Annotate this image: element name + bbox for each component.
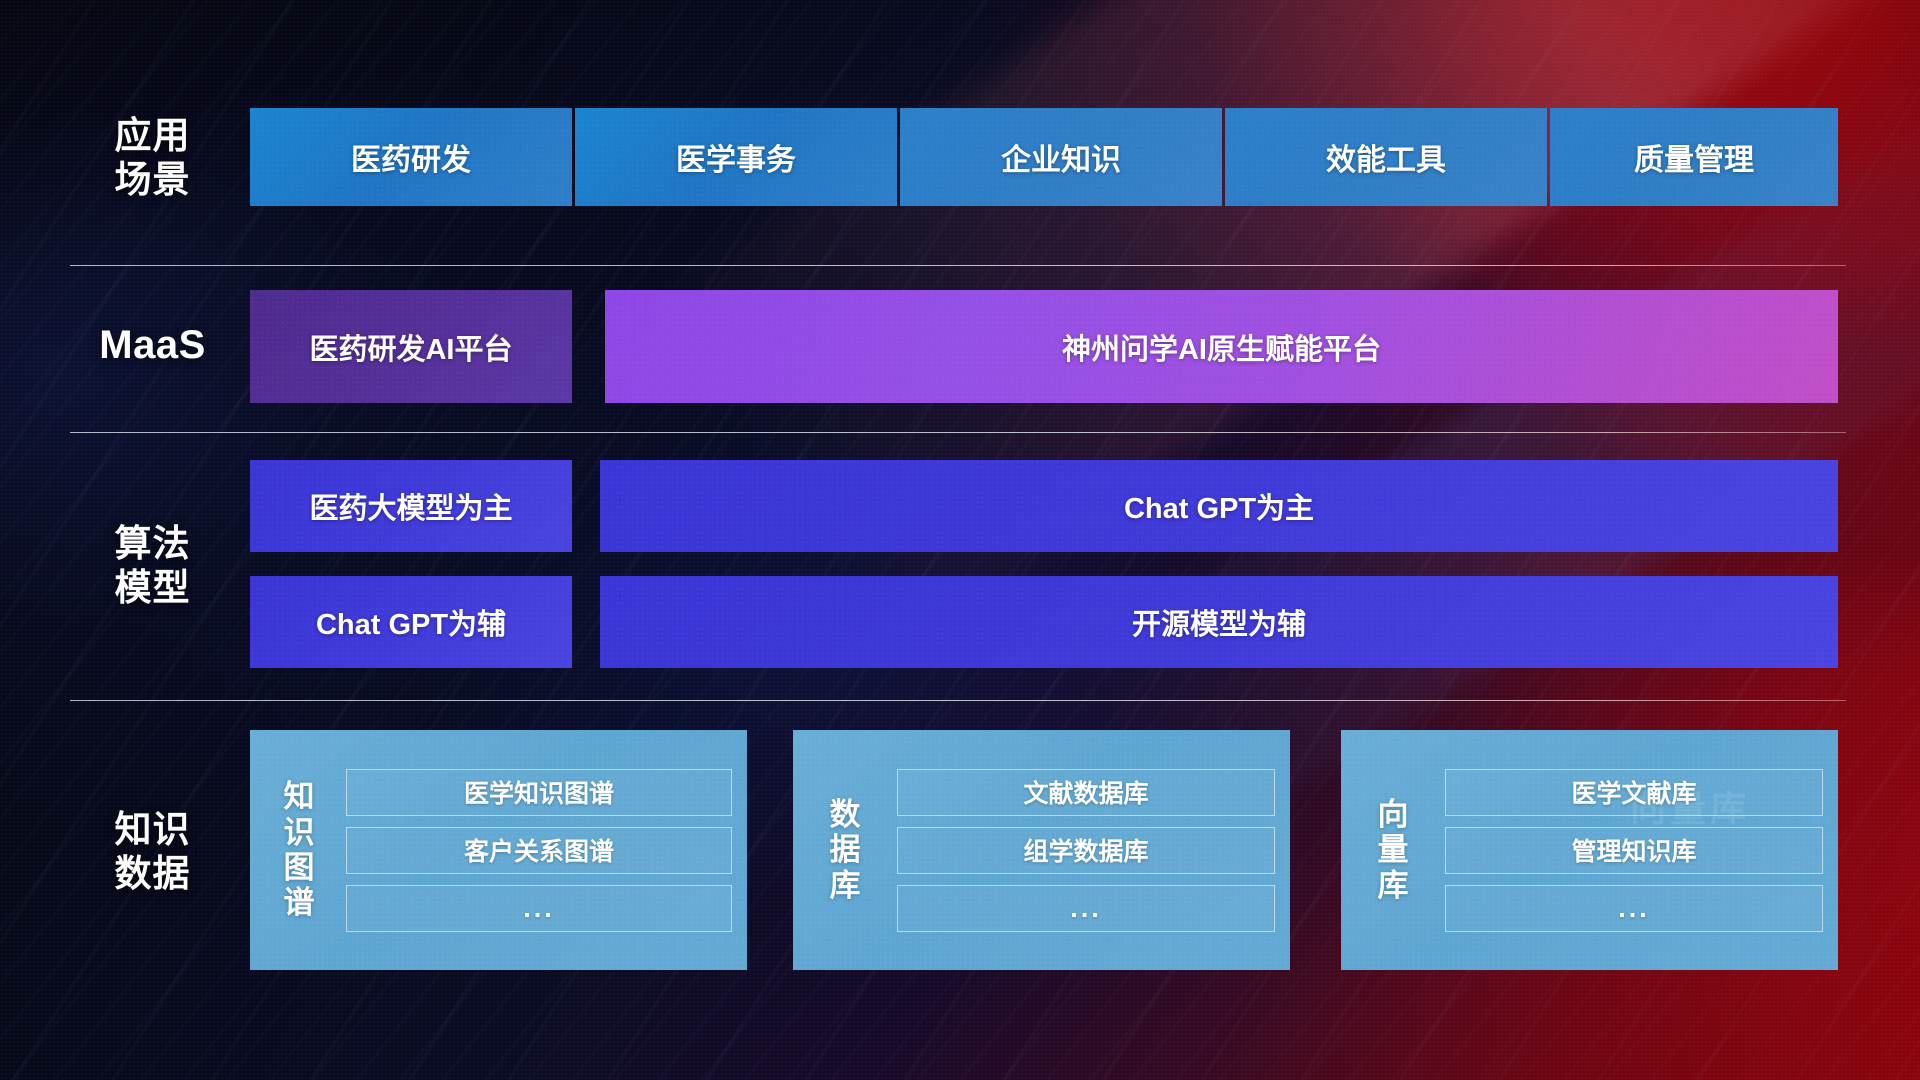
app-box-medical-affairs-label: 医学事务: [676, 135, 796, 179]
algorithm-box-opensource-secondary-label: 开源模型为辅: [1132, 601, 1306, 643]
app-box-drug-rnd[interactable]: 医药研发: [250, 108, 572, 206]
diagram-content: 应用 场景 医药研发 医学事务 企业知识 效能工具 质量管理 MaaS 医药研发…: [0, 0, 1920, 1080]
knowledge-item-customer-relation-graph[interactable]: 客户关系图谱: [346, 827, 732, 874]
row-label-knowledge-data: 知识 数据: [70, 808, 235, 895]
app-box-efficiency-tools[interactable]: 效能工具: [1225, 108, 1547, 206]
app-box-enterprise-knowledge[interactable]: 企业知识: [900, 108, 1222, 206]
maas-box-drug-rnd-ai-platform-label: 医药研发AI平台: [309, 326, 512, 368]
maas-box-shenzhou-wenxue-platform[interactable]: 神州问学AI原生赋能平台: [605, 290, 1838, 403]
algorithm-box-pharma-llm-primary-label: 医药大模型为主: [309, 485, 512, 527]
app-box-quality-management-label: 质量管理: [1634, 135, 1754, 179]
knowledge-item-label: 组学数据库: [1023, 832, 1148, 868]
knowledge-item-label: 客户关系图谱: [464, 832, 614, 868]
knowledge-item-medical-literature-store[interactable]: 医学文献库: [1445, 769, 1823, 816]
divider-algorithm-knowledge: [70, 700, 1846, 701]
app-box-efficiency-tools-label: 效能工具: [1326, 135, 1446, 179]
knowledge-item-label: ...: [523, 893, 555, 924]
knowledge-group-knowledge-graph-side-label: 知 识 图 谱: [270, 779, 328, 920]
knowledge-item-label: ...: [1618, 893, 1650, 924]
knowledge-item-more-db[interactable]: ...: [897, 885, 1275, 932]
knowledge-item-label: 管理知识库: [1571, 832, 1696, 868]
knowledge-group-knowledge-graph: 知 识 图 谱 医学知识图谱 客户关系图谱 ...: [250, 730, 747, 970]
knowledge-item-label: ...: [1070, 893, 1102, 924]
knowledge-item-label: 医学知识图谱: [464, 774, 614, 810]
architecture-diagram: 应用 场景 医药研发 医学事务 企业知识 效能工具 质量管理 MaaS 医药研发…: [0, 0, 1920, 1080]
row-label-maas: MaaS: [70, 322, 235, 369]
row-maas: MaaS 医药研发AI平台 神州问学AI原生赋能平台: [0, 290, 1920, 403]
algorithm-box-chatgpt-secondary-label: Chat GPT为辅: [316, 601, 506, 643]
knowledge-group-vector-store-items: 医学文献库 管理知识库 ...: [1445, 769, 1823, 932]
row-knowledge-data: 知识 数据 知 识 图 谱 医学知识图谱 客户关系图谱 ...: [0, 730, 1920, 970]
app-box-drug-rnd-label: 医药研发: [351, 135, 471, 179]
row-algorithm-model: 算法 模型 医药大模型为主 Chat GPT为主 Chat GPT为辅 开源模型…: [0, 460, 1920, 668]
row-application-scenarios: 应用 场景 医药研发 医学事务 企业知识 效能工具 质量管理: [0, 108, 1920, 206]
algorithm-box-chatgpt-secondary[interactable]: Chat GPT为辅: [250, 576, 572, 668]
knowledge-item-label: 文献数据库: [1023, 774, 1148, 810]
algorithm-box-pharma-llm-primary[interactable]: 医药大模型为主: [250, 460, 572, 552]
knowledge-group-knowledge-graph-items: 医学知识图谱 客户关系图谱 ...: [346, 769, 732, 932]
maas-box-shenzhou-wenxue-platform-label: 神州问学AI原生赋能平台: [1062, 326, 1381, 368]
divider-maas-algorithm: [70, 432, 1846, 433]
algorithm-box-chatgpt-primary[interactable]: Chat GPT为主: [600, 460, 1838, 552]
row-label-application-scenarios: 应用 场景: [70, 114, 235, 201]
knowledge-item-more-vector[interactable]: ...: [1445, 885, 1823, 932]
knowledge-item-medical-knowledge-graph[interactable]: 医学知识图谱: [346, 769, 732, 816]
knowledge-group-database-items: 文献数据库 组学数据库 ...: [897, 769, 1275, 932]
knowledge-group-vector-store-side-label: 向 量 库: [1369, 797, 1417, 903]
algorithm-box-chatgpt-primary-label: Chat GPT为主: [1124, 485, 1314, 527]
knowledge-item-more-kg[interactable]: ...: [346, 885, 732, 932]
knowledge-item-literature-database[interactable]: 文献数据库: [897, 769, 1275, 816]
knowledge-item-label: 医学文献库: [1571, 774, 1696, 810]
row-label-algorithm-model: 算法 模型: [70, 522, 235, 609]
knowledge-group-database-side-label: 数 据 库: [821, 797, 869, 903]
knowledge-group-database: 数 据 库 文献数据库 组学数据库 ...: [793, 730, 1290, 970]
knowledge-item-management-knowledge-store[interactable]: 管理知识库: [1445, 827, 1823, 874]
divider-application-maas: [70, 265, 1846, 266]
app-box-medical-affairs[interactable]: 医学事务: [575, 108, 897, 206]
app-box-enterprise-knowledge-label: 企业知识: [1001, 135, 1121, 179]
algorithm-box-opensource-secondary[interactable]: 开源模型为辅: [600, 576, 1838, 668]
knowledge-group-vector-store: 向 量 库 医学文献库 管理知识库 ...: [1341, 730, 1838, 970]
app-box-quality-management[interactable]: 质量管理: [1550, 108, 1838, 206]
knowledge-item-omics-database[interactable]: 组学数据库: [897, 827, 1275, 874]
maas-box-drug-rnd-ai-platform[interactable]: 医药研发AI平台: [250, 290, 572, 403]
